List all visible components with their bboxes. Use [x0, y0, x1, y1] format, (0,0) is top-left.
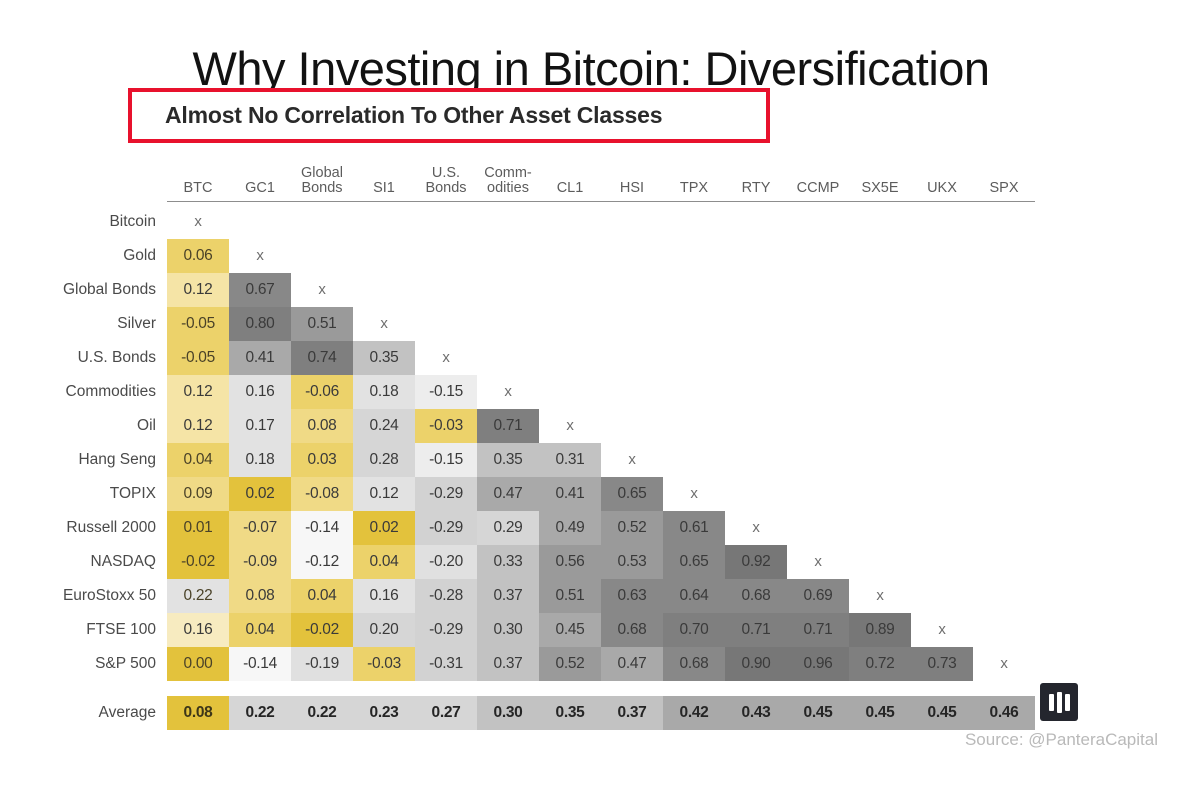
matrix-row: Oil0.120.170.080.24-0.030.71x: [22, 409, 1035, 443]
matrix-cell-empty: [725, 273, 787, 307]
matrix-cell: -0.19: [291, 647, 353, 681]
matrix-cell-empty: [849, 477, 911, 511]
matrix-cell-empty: [787, 205, 849, 239]
matrix-cell-empty: [849, 511, 911, 545]
matrix-cell-empty: [849, 239, 911, 273]
matrix-cell-empty: [601, 341, 663, 375]
matrix-cell: -0.31: [415, 647, 477, 681]
matrix-cell: 0.28: [353, 443, 415, 477]
matrix-cell-empty: [539, 307, 601, 341]
matrix-diagonal-marker: x: [353, 307, 415, 341]
matrix-cell-empty: [725, 341, 787, 375]
matrix-diagonal-marker: x: [477, 375, 539, 409]
matrix-cell: 0.12: [167, 409, 229, 443]
matrix-cell-empty: [849, 443, 911, 477]
matrix-cell: 0.37: [477, 647, 539, 681]
matrix-cell: 0.61: [663, 511, 725, 545]
matrix-cell: -0.08: [291, 477, 353, 511]
matrix-cell: -0.14: [291, 511, 353, 545]
callout-text: Almost No Correlation To Other Asset Cla…: [132, 102, 662, 129]
matrix-cell-empty: [415, 239, 477, 273]
matrix-average-cell: 0.45: [911, 696, 973, 730]
matrix-cell: 0.18: [229, 443, 291, 477]
matrix-average-spacer: [22, 681, 1035, 696]
matrix-cell: 0.65: [601, 477, 663, 511]
matrix-cell: 0.06: [167, 239, 229, 273]
matrix-cell-empty: [725, 409, 787, 443]
matrix-average-cell: 0.43: [725, 696, 787, 730]
matrix-row-label-average: Average: [22, 696, 167, 730]
matrix-cell: 0.67: [229, 273, 291, 307]
matrix-cell: 0.80: [229, 307, 291, 341]
correlation-matrix-container: BTC GC1GlobalBonds SI1U.S.BondsComm-odit…: [0, 152, 1182, 730]
matrix-cell-empty: [973, 341, 1035, 375]
matrix-cell: 0.73: [911, 647, 973, 681]
matrix-cell: -0.20: [415, 545, 477, 579]
matrix-cell-empty: [973, 205, 1035, 239]
matrix-col-header-gc1: GC1: [229, 152, 291, 202]
matrix-cell-empty: [787, 239, 849, 273]
matrix-col-header-ccmp: CCMP: [787, 152, 849, 202]
matrix-cell: 0.16: [353, 579, 415, 613]
matrix-cell: -0.03: [353, 647, 415, 681]
matrix-cell-empty: [911, 511, 973, 545]
matrix-cell-empty: [663, 341, 725, 375]
matrix-cell: 0.41: [539, 477, 601, 511]
matrix-average-cell: 0.23: [353, 696, 415, 730]
matrix-cell: 0.00: [167, 647, 229, 681]
matrix-average-row: Average0.080.220.220.230.270.300.350.370…: [22, 696, 1035, 730]
matrix-header-row: BTC GC1GlobalBonds SI1U.S.BondsComm-odit…: [22, 152, 1035, 202]
matrix-cell-empty: [601, 307, 663, 341]
matrix-cell-empty: [229, 205, 291, 239]
matrix-cell: 0.04: [229, 613, 291, 647]
matrix-cell: -0.15: [415, 443, 477, 477]
matrix-row-label-silver: Silver: [22, 307, 167, 341]
matrix-cell: 0.71: [787, 613, 849, 647]
matrix-cell-empty: [539, 341, 601, 375]
matrix-cell-empty: [415, 273, 477, 307]
matrix-cell: 0.96: [787, 647, 849, 681]
matrix-cell: 0.71: [477, 409, 539, 443]
matrix-cell: 0.04: [353, 545, 415, 579]
matrix-row-label-commodities: Commodities: [22, 375, 167, 409]
matrix-cell: 0.33: [477, 545, 539, 579]
matrix-average-cell: 0.35: [539, 696, 601, 730]
matrix-cell-empty: [911, 579, 973, 613]
matrix-cell-empty: [973, 273, 1035, 307]
matrix-cell: 0.47: [477, 477, 539, 511]
matrix-cell-empty: [601, 273, 663, 307]
matrix-spacer-cell: [22, 681, 1035, 696]
matrix-cell: 0.69: [787, 579, 849, 613]
logo-bar-center: [1057, 692, 1062, 713]
matrix-row: EuroStoxx 500.220.080.040.16-0.280.370.5…: [22, 579, 1035, 613]
matrix-row: Gold0.06x: [22, 239, 1035, 273]
matrix-cell: 0.68: [601, 613, 663, 647]
matrix-row-label-ftse-100: FTSE 100: [22, 613, 167, 647]
matrix-cell-empty: [725, 477, 787, 511]
matrix-cell: 0.12: [167, 375, 229, 409]
matrix-row: Silver-0.050.800.51x: [22, 307, 1035, 341]
matrix-cell-empty: [353, 273, 415, 307]
matrix-cell: 0.90: [725, 647, 787, 681]
matrix-cell: 0.71: [725, 613, 787, 647]
matrix-cell-empty: [849, 341, 911, 375]
matrix-cell: 0.04: [167, 443, 229, 477]
matrix-cell-empty: [849, 205, 911, 239]
matrix-cell-empty: [663, 443, 725, 477]
matrix-cell: 0.16: [167, 613, 229, 647]
matrix-cell-empty: [849, 273, 911, 307]
matrix-cell-empty: [725, 205, 787, 239]
matrix-row: Global Bonds0.120.67x: [22, 273, 1035, 307]
matrix-cell-empty: [911, 477, 973, 511]
matrix-cell-empty: [849, 375, 911, 409]
matrix-cell-empty: [787, 341, 849, 375]
matrix-col-header-u-s-bonds: U.S.Bonds: [415, 152, 477, 202]
matrix-row: S&P 5000.00-0.14-0.19-0.03-0.310.370.520…: [22, 647, 1035, 681]
matrix-col-header-rty: RTY: [725, 152, 787, 202]
matrix-cell: 0.70: [663, 613, 725, 647]
matrix-cell-empty: [601, 239, 663, 273]
matrix-row: Bitcoinx: [22, 205, 1035, 239]
matrix-cell: 0.22: [167, 579, 229, 613]
matrix-row-label-topix: TOPIX: [22, 477, 167, 511]
matrix-cell: 0.35: [353, 341, 415, 375]
matrix-cell: 0.17: [229, 409, 291, 443]
matrix-cell: 0.41: [229, 341, 291, 375]
matrix-col-header-cl1: CL1: [539, 152, 601, 202]
matrix-cell: 0.02: [229, 477, 291, 511]
matrix-cell: 0.65: [663, 545, 725, 579]
pantera-capital-logo: [1040, 683, 1078, 721]
matrix-diagonal-marker: x: [663, 477, 725, 511]
matrix-row-label-hang-seng: Hang Seng: [22, 443, 167, 477]
matrix-cell-empty: [663, 375, 725, 409]
matrix-cell: 0.52: [539, 647, 601, 681]
matrix-cell-empty: [787, 477, 849, 511]
matrix-average-cell: 0.42: [663, 696, 725, 730]
matrix-header: BTC GC1GlobalBonds SI1U.S.BondsComm-odit…: [22, 152, 1035, 205]
matrix-cell: 0.18: [353, 375, 415, 409]
matrix-cell-empty: [601, 409, 663, 443]
matrix-row-label-u-s-bonds: U.S. Bonds: [22, 341, 167, 375]
matrix-cell-empty: [973, 409, 1035, 443]
matrix-col-header-global-bonds: GlobalBonds: [291, 152, 353, 202]
matrix-diagonal-marker: x: [911, 613, 973, 647]
matrix-cell-empty: [725, 307, 787, 341]
matrix-cell: 0.03: [291, 443, 353, 477]
matrix-diagonal-marker: x: [725, 511, 787, 545]
matrix-cell-empty: [849, 409, 911, 443]
matrix-row-label-russell-2000: Russell 2000: [22, 511, 167, 545]
matrix-cell-empty: [539, 239, 601, 273]
matrix-cell-empty: [353, 239, 415, 273]
matrix-cell: 0.49: [539, 511, 601, 545]
matrix-cell: -0.09: [229, 545, 291, 579]
matrix-row-label-nasdaq: NASDAQ: [22, 545, 167, 579]
matrix-average-cell: 0.22: [229, 696, 291, 730]
matrix-average-cell: 0.22: [291, 696, 353, 730]
matrix-cell-empty: [849, 545, 911, 579]
matrix-row-label-gold: Gold: [22, 239, 167, 273]
matrix-cell-empty: [725, 443, 787, 477]
matrix-row: Commodities0.120.16-0.060.18-0.15x: [22, 375, 1035, 409]
matrix-row: U.S. Bonds-0.050.410.740.35x: [22, 341, 1035, 375]
matrix-cell-empty: [477, 341, 539, 375]
matrix-cell: 0.68: [663, 647, 725, 681]
matrix-col-header-si1: SI1: [353, 152, 415, 202]
matrix-col-header-spx: SPX: [973, 152, 1035, 202]
matrix-cell: 0.01: [167, 511, 229, 545]
matrix-row-label-eurostoxx-50: EuroStoxx 50: [22, 579, 167, 613]
matrix-cell-empty: [911, 307, 973, 341]
matrix-cell-empty: [911, 239, 973, 273]
matrix-cell-empty: [911, 273, 973, 307]
matrix-cell: 0.30: [477, 613, 539, 647]
matrix-cell: 0.31: [539, 443, 601, 477]
matrix-cell-empty: [787, 375, 849, 409]
matrix-cell-empty: [787, 273, 849, 307]
matrix-cell-empty: [539, 273, 601, 307]
matrix-cell: -0.29: [415, 477, 477, 511]
matrix-cell: -0.15: [415, 375, 477, 409]
matrix-cell-empty: [973, 477, 1035, 511]
matrix-cell-empty: [849, 307, 911, 341]
matrix-cell-empty: [601, 375, 663, 409]
matrix-cell: 0.24: [353, 409, 415, 443]
matrix-cell: 0.12: [167, 273, 229, 307]
matrix-cell: 0.12: [353, 477, 415, 511]
logo-bar-right: [1065, 694, 1070, 711]
matrix-cell: 0.64: [663, 579, 725, 613]
matrix-cell: 0.74: [291, 341, 353, 375]
matrix-diagonal-marker: x: [291, 273, 353, 307]
matrix-cell: 0.29: [477, 511, 539, 545]
matrix-row: FTSE 1000.160.04-0.020.20-0.290.300.450.…: [22, 613, 1035, 647]
matrix-cell-empty: [911, 205, 973, 239]
matrix-average-cell: 0.45: [849, 696, 911, 730]
matrix-average-cell: 0.08: [167, 696, 229, 730]
matrix-cell-empty: [539, 205, 601, 239]
matrix-cell: -0.02: [167, 545, 229, 579]
matrix-cell-empty: [973, 307, 1035, 341]
matrix-row: Hang Seng0.040.180.030.28-0.150.350.31x: [22, 443, 1035, 477]
matrix-cell: 0.89: [849, 613, 911, 647]
matrix-cell-empty: [725, 375, 787, 409]
matrix-cell-empty: [911, 443, 973, 477]
matrix-cell-empty: [787, 511, 849, 545]
matrix-cell-empty: [973, 511, 1035, 545]
matrix-cell: -0.05: [167, 341, 229, 375]
callout-box: Almost No Correlation To Other Asset Cla…: [128, 88, 770, 143]
matrix-average-cell: 0.30: [477, 696, 539, 730]
matrix-diagonal-marker: x: [167, 205, 229, 239]
matrix-cell: 0.09: [167, 477, 229, 511]
matrix-corner-cell: [22, 152, 167, 202]
matrix-average-cell: 0.37: [601, 696, 663, 730]
matrix-cell: 0.56: [539, 545, 601, 579]
matrix-cell-empty: [787, 307, 849, 341]
matrix-cell: 0.20: [353, 613, 415, 647]
matrix-cell-empty: [663, 273, 725, 307]
matrix-cell: -0.03: [415, 409, 477, 443]
matrix-cell-empty: [663, 409, 725, 443]
matrix-cell: 0.45: [539, 613, 601, 647]
matrix-cell-empty: [973, 545, 1035, 579]
matrix-cell: 0.08: [229, 579, 291, 613]
matrix-diagonal-marker: x: [787, 545, 849, 579]
matrix-diagonal-marker: x: [415, 341, 477, 375]
matrix-col-header-tpx: TPX: [663, 152, 725, 202]
matrix-cell-empty: [415, 205, 477, 239]
matrix-cell: -0.12: [291, 545, 353, 579]
matrix-cell: 0.08: [291, 409, 353, 443]
correlation-matrix: BTC GC1GlobalBonds SI1U.S.BondsComm-odit…: [22, 152, 1035, 730]
matrix-cell: -0.06: [291, 375, 353, 409]
matrix-cell-empty: [353, 205, 415, 239]
matrix-cell-empty: [291, 205, 353, 239]
matrix-cell: -0.29: [415, 511, 477, 545]
matrix-cell-empty: [539, 375, 601, 409]
matrix-cell: 0.35: [477, 443, 539, 477]
matrix-row-label-s-p-500: S&P 500: [22, 647, 167, 681]
matrix-col-header-ukx: UKX: [911, 152, 973, 202]
matrix-cell-empty: [291, 239, 353, 273]
matrix-cell-empty: [911, 409, 973, 443]
matrix-cell-empty: [663, 239, 725, 273]
matrix-cell-empty: [973, 443, 1035, 477]
matrix-cell-empty: [911, 341, 973, 375]
matrix-cell-empty: [477, 239, 539, 273]
matrix-diagonal-marker: x: [539, 409, 601, 443]
matrix-cell: -0.07: [229, 511, 291, 545]
matrix-col-header-btc: BTC: [167, 152, 229, 202]
matrix-cell-empty: [787, 409, 849, 443]
matrix-cell: 0.16: [229, 375, 291, 409]
matrix-col-header-commodities: Comm-odities: [477, 152, 539, 202]
matrix-cell: 0.04: [291, 579, 353, 613]
matrix-row-label-oil: Oil: [22, 409, 167, 443]
matrix-cell-empty: [477, 205, 539, 239]
matrix-cell-empty: [663, 307, 725, 341]
matrix-cell: -0.02: [291, 613, 353, 647]
matrix-cell-empty: [601, 205, 663, 239]
matrix-cell: -0.28: [415, 579, 477, 613]
matrix-cell: 0.51: [291, 307, 353, 341]
matrix-cell: 0.02: [353, 511, 415, 545]
matrix-diagonal-marker: x: [601, 443, 663, 477]
matrix-cell-empty: [477, 307, 539, 341]
matrix-cell-empty: [973, 375, 1035, 409]
matrix-cell-empty: [973, 579, 1035, 613]
matrix-cell: 0.72: [849, 647, 911, 681]
matrix-row-label-global-bonds: Global Bonds: [22, 273, 167, 307]
matrix-cell: -0.29: [415, 613, 477, 647]
matrix-body: BitcoinxGold0.06xGlobal Bonds0.120.67xSi…: [22, 205, 1035, 730]
matrix-cell: 0.52: [601, 511, 663, 545]
matrix-cell: 0.53: [601, 545, 663, 579]
matrix-col-header-hsi: HSI: [601, 152, 663, 202]
matrix-cell-empty: [663, 205, 725, 239]
matrix-cell: 0.37: [477, 579, 539, 613]
matrix-col-header-sx5e: SX5E: [849, 152, 911, 202]
matrix-cell: 0.63: [601, 579, 663, 613]
matrix-diagonal-marker: x: [849, 579, 911, 613]
matrix-cell-empty: [477, 273, 539, 307]
matrix-cell: 0.47: [601, 647, 663, 681]
matrix-cell: 0.92: [725, 545, 787, 579]
matrix-diagonal-marker: x: [229, 239, 291, 273]
matrix-average-cell: 0.27: [415, 696, 477, 730]
matrix-cell: -0.14: [229, 647, 291, 681]
matrix-row: TOPIX0.090.02-0.080.12-0.290.470.410.65x: [22, 477, 1035, 511]
matrix-cell-empty: [725, 239, 787, 273]
matrix-cell-empty: [973, 239, 1035, 273]
matrix-cell-empty: [911, 375, 973, 409]
matrix-cell-empty: [787, 443, 849, 477]
matrix-cell-empty: [973, 613, 1035, 647]
matrix-diagonal-marker: x: [973, 647, 1035, 681]
matrix-cell-empty: [415, 307, 477, 341]
logo-bar-left: [1049, 694, 1054, 711]
matrix-average-cell: 0.46: [973, 696, 1035, 730]
matrix-cell: 0.51: [539, 579, 601, 613]
matrix-average-cell: 0.45: [787, 696, 849, 730]
matrix-row: Russell 20000.01-0.07-0.140.02-0.290.290…: [22, 511, 1035, 545]
matrix-cell: 0.68: [725, 579, 787, 613]
matrix-row: NASDAQ-0.02-0.09-0.120.04-0.200.330.560.…: [22, 545, 1035, 579]
source-attribution: Source: @PanteraCapital: [965, 730, 1158, 750]
matrix-row-label-bitcoin: Bitcoin: [22, 205, 167, 239]
matrix-cell-empty: [911, 545, 973, 579]
matrix-cell: -0.05: [167, 307, 229, 341]
